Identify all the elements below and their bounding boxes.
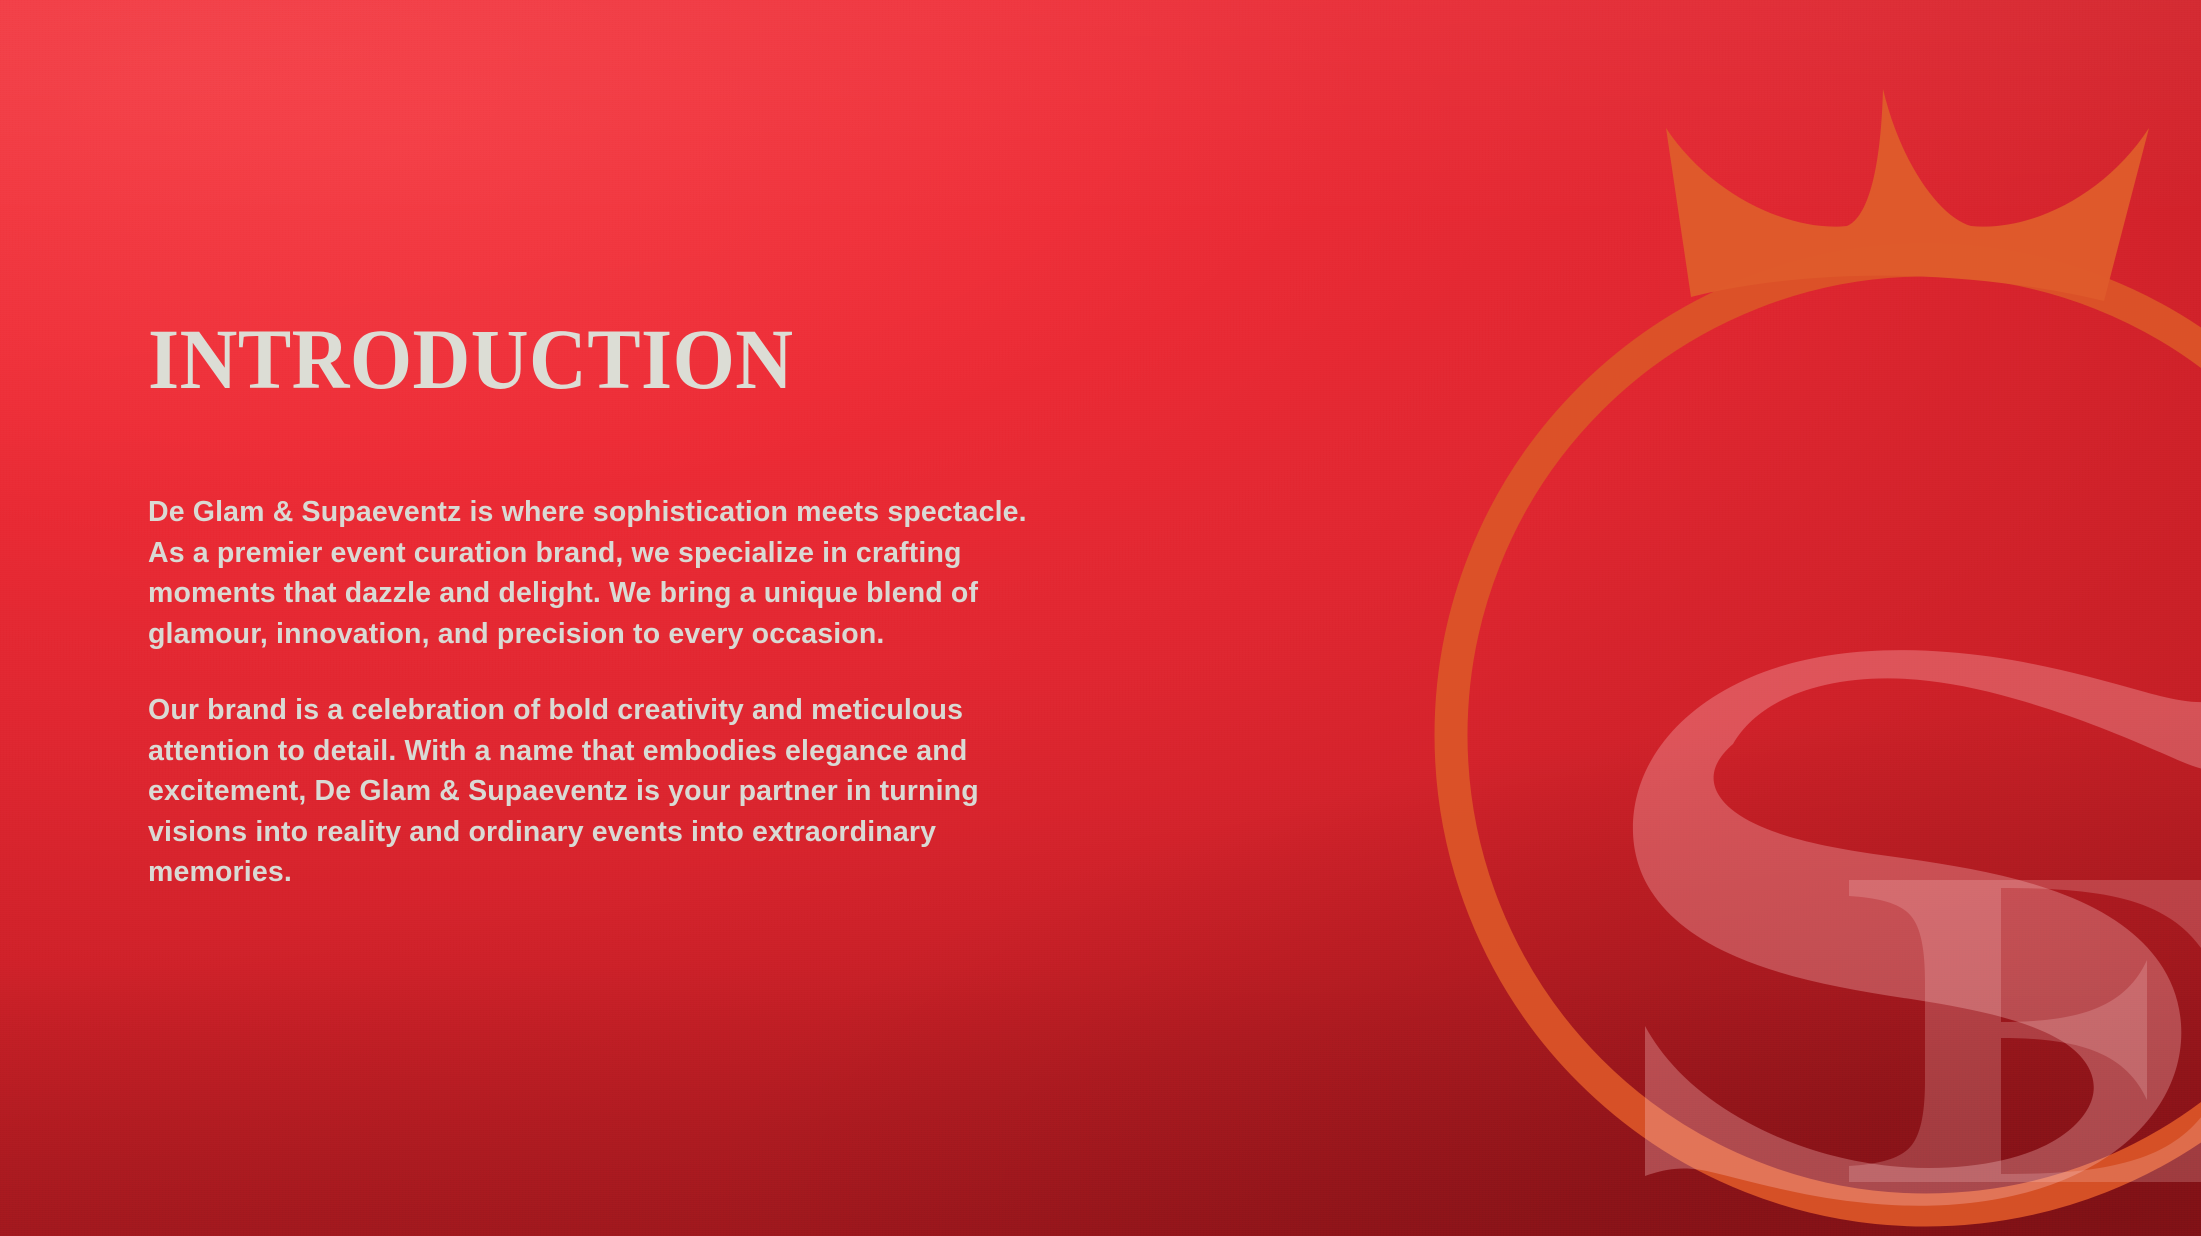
paragraph-2: Our brand is a celebration of bold creat… [148, 690, 1348, 893]
page-title: INTRODUCTION [148, 316, 794, 402]
paragraph-1: De Glam & Supaeventz is where sophistica… [148, 492, 1348, 654]
body-copy: De Glam & Supaeventz is where sophistica… [148, 492, 1348, 893]
introduction-slide: INTRODUCTION De Glam & Supaeventz is whe… [0, 0, 2201, 1236]
slide-content: INTRODUCTION De Glam & Supaeventz is whe… [148, 0, 1388, 1236]
